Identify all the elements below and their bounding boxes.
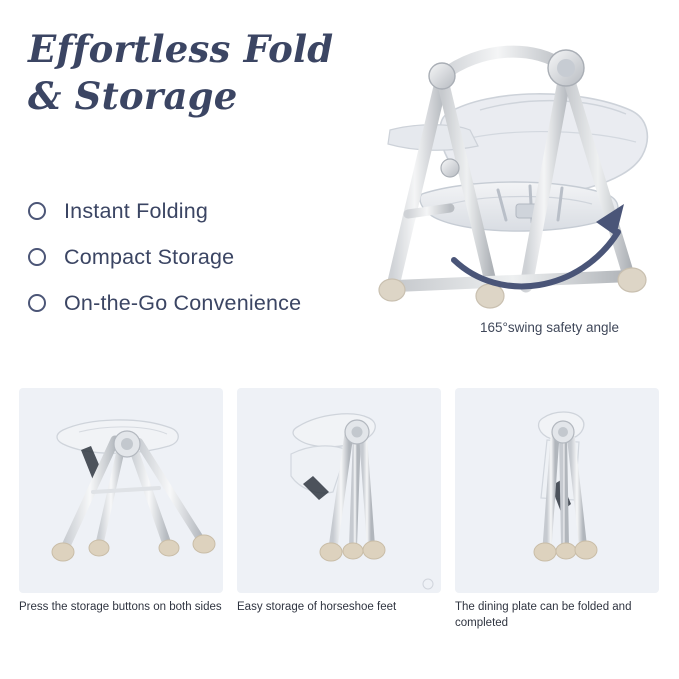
watermark-icon	[422, 578, 434, 590]
steps-captions: Press the storage buttons on both sides …	[19, 600, 660, 631]
list-item: On-the-Go Convenience	[28, 280, 378, 326]
page-title-line-2: & Storage	[28, 73, 368, 120]
list-item: Compact Storage	[28, 234, 378, 280]
step-panel-2	[237, 388, 441, 593]
folded-chair-side-icon	[237, 388, 441, 593]
step-caption-1: Press the storage buttons on both sides	[19, 600, 223, 631]
circle-outline-icon	[28, 202, 46, 220]
page-title: Effortless Fold & Storage	[28, 26, 368, 121]
list-item: Instant Folding	[28, 188, 378, 234]
step-caption-2: Easy storage of horseshoe feet	[237, 600, 441, 631]
folded-chair-front-icon	[19, 388, 223, 593]
step-caption-3: The dining plate can be folded and compl…	[455, 600, 659, 631]
step-panel-3	[455, 388, 659, 593]
circle-outline-icon	[28, 294, 46, 312]
product-feature-page: Effortless Fold & Storage Instant Foldin…	[0, 0, 679, 679]
step-panel-1	[19, 388, 223, 593]
folded-chair-compact-icon	[455, 388, 659, 593]
feature-label: On-the-Go Convenience	[64, 291, 301, 316]
feature-list: Instant Folding Compact Storage On-the-G…	[28, 188, 378, 326]
steps-gallery	[19, 388, 660, 593]
circle-outline-icon	[28, 248, 46, 266]
hero-product-image	[330, 18, 675, 338]
hero-caption: 165°swing safety angle	[480, 320, 679, 335]
page-title-line-1: Effortless Fold	[28, 27, 333, 71]
baby-high-chair-swing-icon	[330, 18, 675, 338]
feature-label: Instant Folding	[64, 199, 208, 224]
feature-label: Compact Storage	[64, 245, 234, 270]
